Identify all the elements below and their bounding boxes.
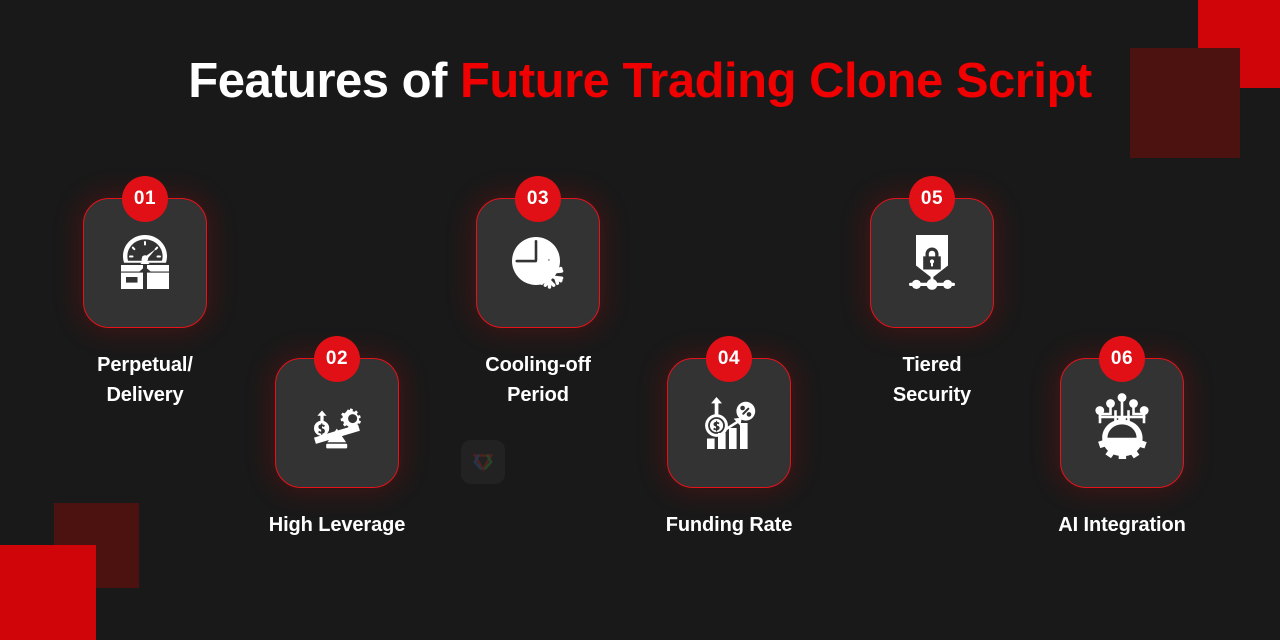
feature-card-01[interactable]: 01 Perpetual/ De	[83, 198, 207, 328]
slide-canvas: Features of Future Trading Clone Script …	[0, 0, 1280, 640]
shield-lock-network-icon	[896, 227, 968, 299]
feature-card-04-tile[interactable]: 04	[667, 358, 791, 488]
bar-chart-dollar-percent-icon	[693, 387, 765, 459]
feature-card-02[interactable]: 02 High Leverage	[275, 358, 399, 488]
feature-card-02-badge: 02	[314, 336, 360, 382]
feature-card-02-tile[interactable]: 02	[275, 358, 399, 488]
feature-card-06-tile[interactable]: 06	[1060, 358, 1184, 488]
feature-card-05-tile[interactable]: 05	[870, 198, 994, 328]
page-title-highlight: Future Trading Clone Script	[460, 54, 1092, 108]
feature-card-03-tile[interactable]: 03	[476, 198, 600, 328]
feature-card-03[interactable]: 03	[476, 198, 600, 328]
feature-card-04[interactable]: 04 Fu	[667, 358, 791, 488]
feature-card-03-label: Cooling-off Period	[428, 350, 648, 411]
feature-card-04-badge: 04	[706, 336, 752, 382]
feature-card-06[interactable]: 06	[1060, 358, 1184, 488]
clock-snowflake-icon	[502, 227, 574, 299]
lever-dollar-gear-icon	[301, 387, 373, 459]
gauge-box-icon	[109, 227, 181, 299]
feature-card-01-label: Perpetual/ Delivery	[50, 350, 240, 411]
feature-card-05[interactable]: 05 Tiered Security	[870, 198, 994, 328]
page-title-prefix: Features of	[188, 54, 460, 108]
page-title: Features of Future Trading Clone Script	[0, 55, 1280, 109]
feature-card-06-label: AI Integration	[1002, 510, 1242, 540]
feature-card-04-label: Funding Rate	[619, 510, 839, 540]
feature-card-05-label: Tiered Security	[822, 350, 1042, 411]
gear-circuit-icon	[1086, 387, 1158, 459]
feature-card-05-badge: 05	[909, 176, 955, 222]
feature-card-03-badge: 03	[515, 176, 561, 222]
feature-card-01-tile[interactable]: 01	[83, 198, 207, 328]
brand-logo-watermark-icon	[461, 440, 505, 484]
feature-card-01-badge: 01	[122, 176, 168, 222]
feature-card-02-label: High Leverage	[227, 510, 447, 540]
bottom-left-bright-square	[0, 545, 96, 640]
feature-card-06-badge: 06	[1099, 336, 1145, 382]
